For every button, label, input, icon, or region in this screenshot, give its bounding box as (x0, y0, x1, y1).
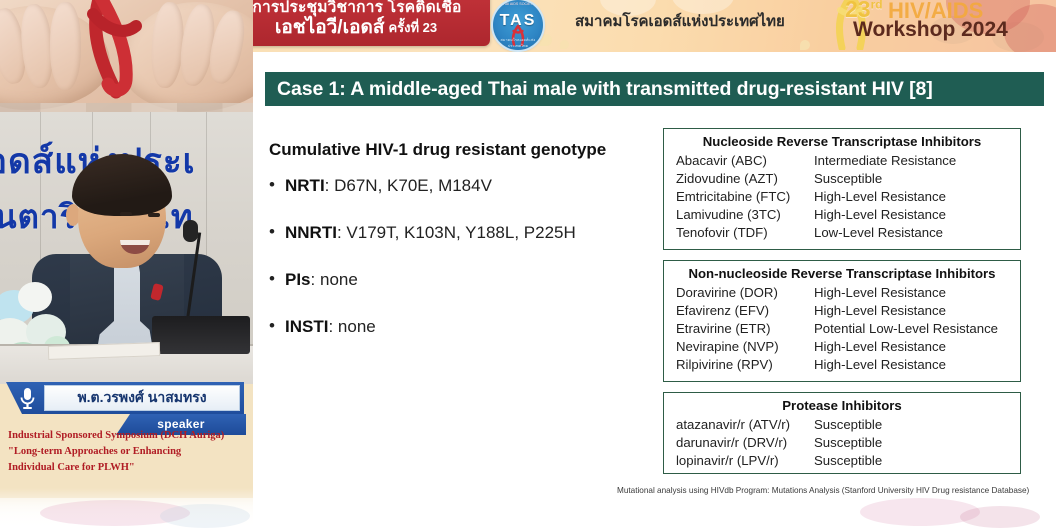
resistance-result: Susceptible (814, 170, 882, 188)
bullet-value: none (338, 317, 376, 336)
table-row: atazanavir/r (ATV/r) Susceptible (664, 416, 1020, 434)
speaker-conference-photo: อดส์แห่งประเ นตารินกรงเท (0, 112, 253, 384)
header-confetti (800, 40, 810, 50)
bullet-separator: : (328, 317, 337, 336)
resistance-result: Intermediate Resistance (814, 152, 956, 170)
resistance-result: High-Level Resistance (814, 188, 946, 206)
list-item: NNRTI: V179T, K103N, Y188L, P225H (269, 223, 659, 243)
symposium-line-2: "Long-term Approaches or Enhancing (8, 444, 245, 460)
resistance-box-title: Non-nucleoside Reverse Transcriptase Inh… (664, 261, 1020, 284)
header-confetti (560, 40, 569, 49)
resistance-box-nrti: Nucleoside Reverse Transcriptase Inhibit… (663, 128, 1021, 250)
resistance-box-protease: Protease Inhibitors atazanavir/r (ATV/r)… (663, 392, 1021, 474)
drug-name: Zidovudine (AZT) (676, 170, 814, 188)
laptop (152, 316, 250, 354)
conference-title-thai-line2: เอชไอวี/เอดส์ครั้งที่ 23 (222, 12, 490, 42)
drug-name: Tenofovir (TDF) (676, 224, 814, 242)
drug-name: Rilpivirine (RPV) (676, 356, 814, 374)
symposium-caption: Industrial Sponsored Symposium (DCH Auri… (0, 428, 253, 476)
flower (18, 282, 52, 312)
drug-name: Doravirine (DOR) (676, 284, 814, 302)
case-title-bar: Case 1: A middle-aged Thai male with tra… (265, 72, 1044, 106)
table-row: darunavir/r (DRV/r) Susceptible (664, 434, 1020, 452)
tas-logo-top-text: THAI AIDS SOCIETY (493, 2, 543, 6)
drug-name: Nevirapine (NVP) (676, 338, 814, 356)
genotype-bullet-list: NRTI: D67N, K70E, M184V NNRTI: V179T, K1… (269, 176, 659, 364)
resistance-result: High-Level Resistance (814, 356, 946, 374)
resistance-result: Susceptible (814, 416, 882, 434)
bullet-value: none (320, 270, 358, 289)
table-row: Emtricitabine (FTC) High-Level Resistanc… (664, 188, 1020, 206)
bullet-separator: : (325, 176, 334, 195)
resistance-result: High-Level Resistance (814, 284, 946, 302)
table-row: Etravirine (ETR) Potential Low-Level Res… (664, 320, 1020, 338)
bullet-separator: : (311, 270, 320, 289)
footnote-source: Mutational analysis using HIVdb Program:… (617, 485, 1056, 497)
conference-title-thai-main: เอชไอวี/เอดส์ (275, 17, 385, 38)
table-row: Abacavir (ABC) Intermediate Resistance (664, 152, 1020, 170)
speaker-eye (148, 213, 160, 217)
table-row: Tenofovir (TDF) Low-Level Resistance (664, 224, 1020, 242)
table-row: Lamivudine (3TC) High-Level Resistance (664, 206, 1020, 224)
list-item: INSTI: none (269, 317, 659, 337)
case-title-text: Case 1: A middle-aged Thai male with tra… (277, 78, 933, 101)
table-row: Nevirapine (NVP) High-Level Resistance (664, 338, 1020, 356)
genotype-heading: Cumulative HIV-1 drug resistant genotype (269, 140, 606, 160)
resistance-result: Low-Level Resistance (814, 224, 943, 242)
list-item: PIs: none (269, 270, 659, 290)
resistance-result: High-Level Resistance (814, 338, 946, 356)
resistance-result: High-Level Resistance (814, 302, 946, 320)
left-media-panel: อดส์แห่งประเ นตารินกรงเท (0, 0, 253, 528)
tas-logo: THAI AIDS SOCIETY TAS สมาคมโรคเอดส์แห่งป… (493, 0, 543, 50)
resistance-result: Susceptible (814, 434, 882, 452)
tas-logo-sub-text: สมาคมโรคเอดส์แห่งประเทศไทย (493, 37, 543, 49)
hands-ribbon-photo (0, 0, 253, 115)
workshop-ordinal-suffix: rd (871, 0, 883, 11)
speaker-name: พ.ต.วรพงศ์ นาสมทรง (44, 387, 240, 409)
resistance-result: Potential Low-Level Resistance (814, 320, 998, 338)
association-name-thai: สมาคมโรคเอดส์แห่งประเทศไทย (575, 9, 785, 33)
microphone-head (183, 220, 198, 242)
bullet-separator: : (337, 223, 346, 242)
resistance-result: High-Level Resistance (814, 206, 946, 224)
left-panel-bottom-fade (0, 488, 253, 528)
presentation-slide: การประชุมวิชาการ โรคติดเชื้อ เอชไอวี/เอด… (0, 0, 1056, 528)
table-row: lopinavir/r (LPV/r) Susceptible (664, 452, 1020, 470)
microphone-icon (14, 384, 40, 412)
symposium-line-3: Individual Care for PLWH" (8, 460, 245, 476)
bullet-label: INSTI (285, 317, 328, 336)
bullet-label: NRTI (285, 176, 325, 195)
resistance-box-title: Nucleoside Reverse Transcriptase Inhibit… (664, 129, 1020, 152)
slide-content: Case 1: A middle-aged Thai male with tra… (253, 52, 1056, 528)
conference-edition-thai: ครั้งที่ 23 (388, 20, 437, 35)
table-row: Zidovudine (AZT) Susceptible (664, 170, 1020, 188)
drug-name: atazanavir/r (ATV/r) (676, 416, 814, 434)
bullet-label: NNRTI (285, 223, 337, 242)
resistance-result: Susceptible (814, 452, 882, 470)
drug-name: Efavirenz (EFV) (676, 302, 814, 320)
table-row: Rilpivirine (RPV) High-Level Resistance (664, 356, 1020, 374)
symposium-line-1: Industrial Sponsored Symposium (DCH Auri… (8, 428, 245, 444)
red-awareness-ribbon-icon (70, 0, 180, 106)
table-row: Doravirine (DOR) High-Level Resistance (664, 284, 1020, 302)
drug-name: lopinavir/r (LPV/r) (676, 452, 814, 470)
drug-name: darunavir/r (DRV/r) (676, 434, 814, 452)
resistance-box-title: Protease Inhibitors (664, 393, 1020, 416)
drug-name: Etravirine (ETR) (676, 320, 814, 338)
resistance-box-nnrti: Non-nucleoside Reverse Transcriptase Inh… (663, 260, 1021, 382)
bullet-label: PIs (285, 270, 311, 289)
table-row: Efavirenz (EFV) High-Level Resistance (664, 302, 1020, 320)
drug-name: Emtricitabine (FTC) (676, 188, 814, 206)
drug-name: Lamivudine (3TC) (676, 206, 814, 224)
speaker-eye (120, 212, 132, 216)
list-item: NRTI: D67N, K70E, M184V (269, 176, 659, 196)
workshop-label: Workshop 2024 (853, 18, 1008, 42)
bullet-value: D67N, K70E, M184V (334, 176, 492, 195)
drug-name: Abacavir (ABC) (676, 152, 814, 170)
bullet-value: V179T, K103N, Y188L, P225H (346, 223, 575, 242)
